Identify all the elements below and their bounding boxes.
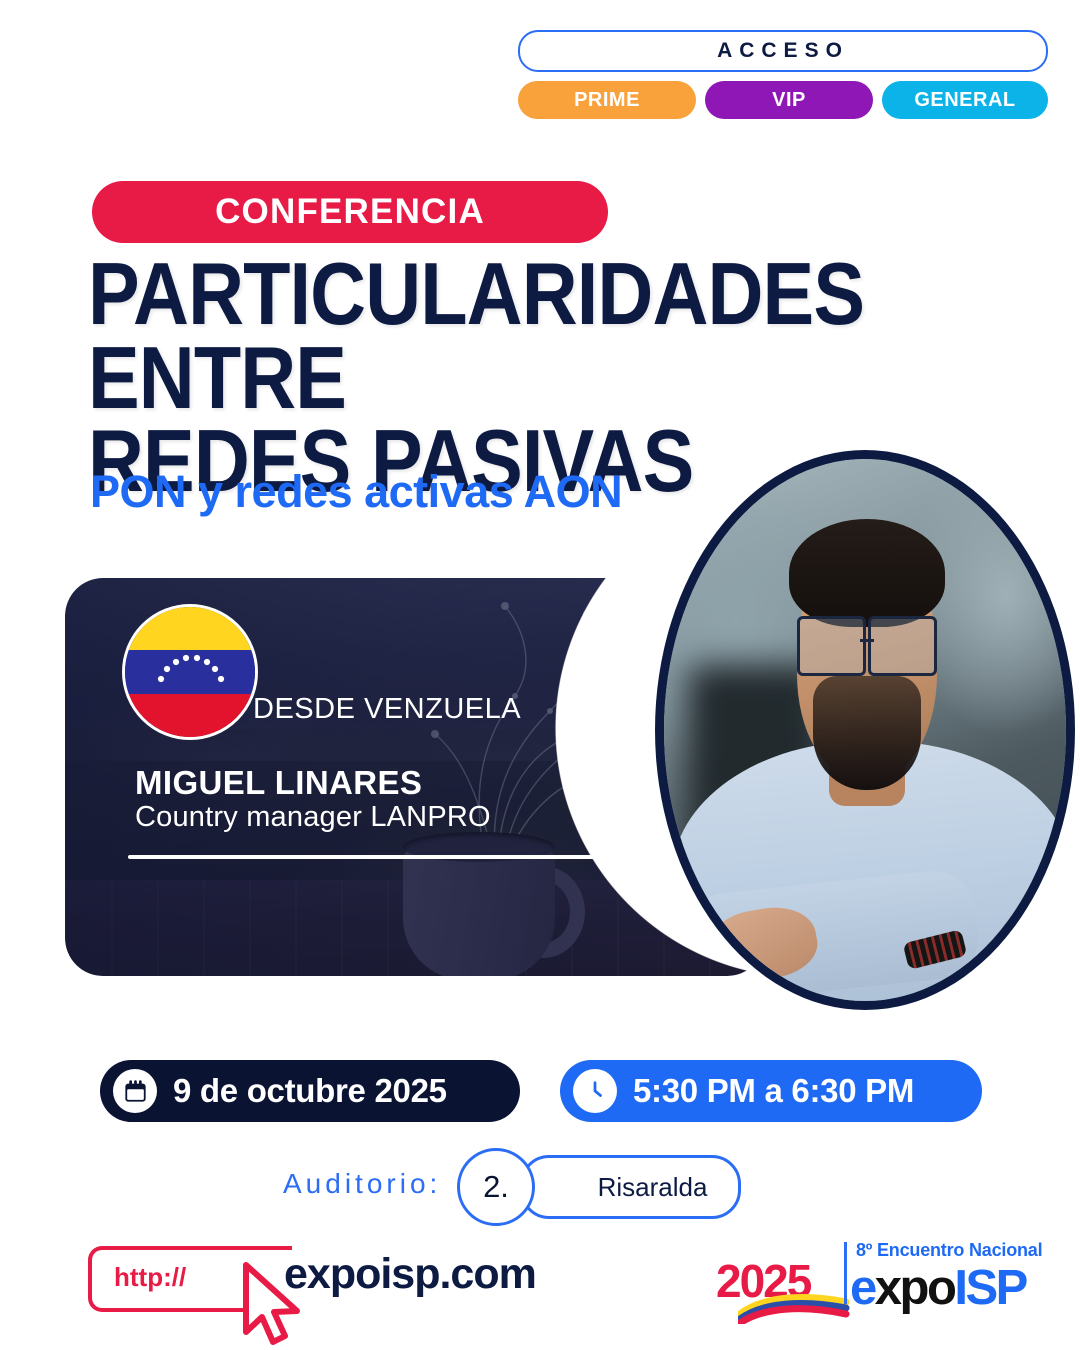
- brand-name: expoISP: [850, 1260, 1026, 1316]
- brand-name-xpo: xpo: [875, 1261, 955, 1315]
- access-tier-vip[interactable]: VIP: [705, 81, 873, 119]
- brand-tagline: 8º Encuentro Nacional: [856, 1240, 1042, 1261]
- access-tier-list: PRIME VIP GENERAL: [518, 81, 1048, 119]
- access-block: ACCESO PRIME VIP GENERAL: [518, 30, 1048, 119]
- conference-badge: CONFERENCIA: [92, 181, 608, 243]
- access-title: ACCESO: [518, 30, 1048, 72]
- clock-icon: [573, 1069, 617, 1113]
- event-date-pill: 9 de octubre 2025: [100, 1060, 520, 1122]
- title-line-1: PARTICULARIDADES ENTRE: [88, 244, 864, 427]
- logo-divider: [844, 1242, 847, 1304]
- flag-stars: [125, 607, 255, 737]
- access-tier-general[interactable]: GENERAL: [882, 81, 1048, 119]
- venue-number-circle: 2.: [457, 1148, 535, 1226]
- speaker-divider: [128, 855, 608, 859]
- calendar-icon: [113, 1069, 157, 1113]
- event-time-pill: 5:30 PM a 6:30 PM: [560, 1060, 982, 1122]
- speaker-role: Country manager LANPRO: [135, 801, 491, 834]
- colombia-swoosh-icon: [738, 1290, 850, 1324]
- event-date-text: 9 de octubre 2025: [173, 1072, 447, 1110]
- speaker-country-label: DESDE VENZUELA: [253, 693, 521, 726]
- expoisp-logo: 2025 8º Encuentro Nacional expoISP: [716, 1238, 1046, 1330]
- conference-poster: ACCESO PRIME VIP GENERAL CONFERENCIA PAR…: [0, 0, 1080, 1350]
- venue-label: Auditorio:: [283, 1168, 441, 1200]
- brand-name-e: e: [850, 1261, 875, 1315]
- page-subtitle: PON y redes activas AON: [90, 466, 622, 518]
- venue-name-pill: Risaralda: [520, 1155, 741, 1219]
- brand-name-isp: ISP: [954, 1261, 1025, 1315]
- speaker-portrait: [655, 450, 1075, 1010]
- website-domain: expoisp.com: [284, 1250, 536, 1299]
- access-tier-prime[interactable]: PRIME: [518, 81, 696, 119]
- website-protocol: http://: [114, 1262, 186, 1293]
- glasses-icon: [797, 616, 938, 670]
- speaker-name: MIGUEL LINARES: [135, 764, 422, 802]
- event-time-text: 5:30 PM a 6:30 PM: [633, 1072, 914, 1110]
- venue-name: Risaralda: [598, 1172, 708, 1203]
- venezuela-flag-icon: [122, 604, 258, 740]
- website-logo[interactable]: http:// expoisp.com: [88, 1240, 488, 1332]
